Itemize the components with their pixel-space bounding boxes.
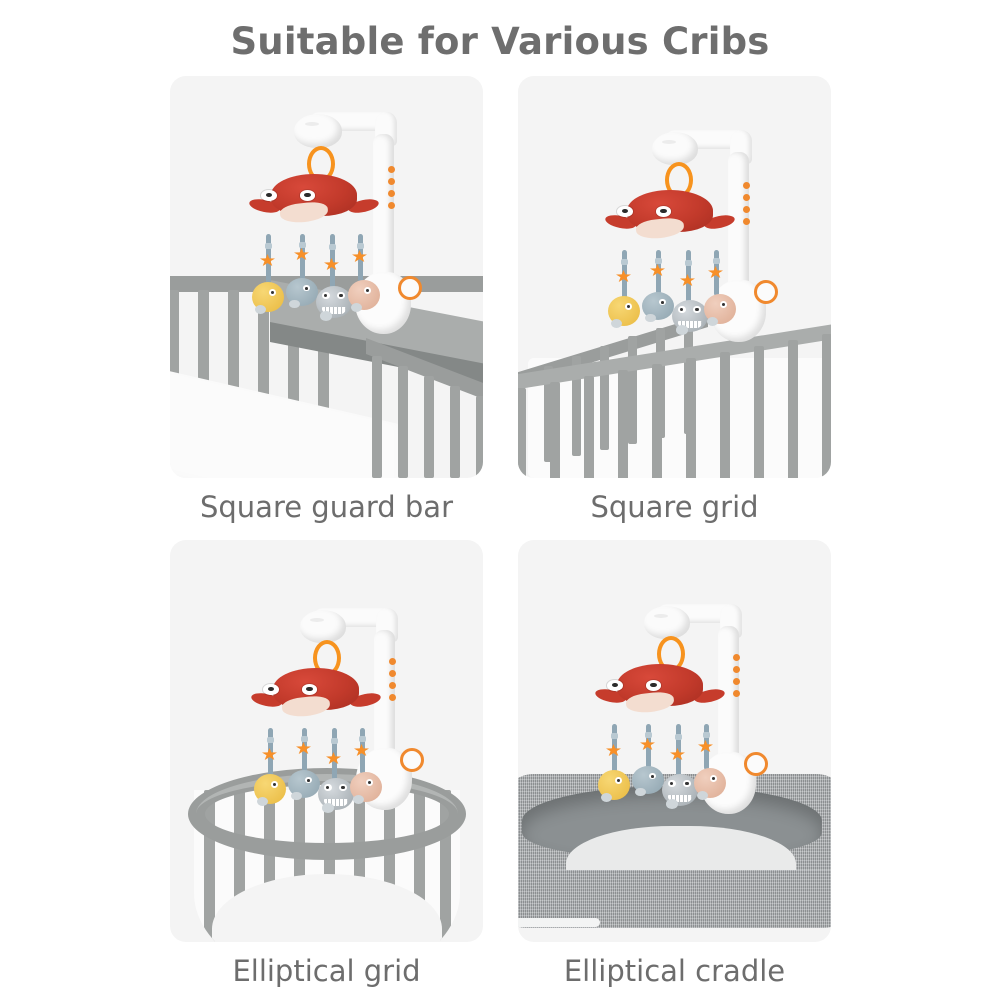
mobile-clamp-knob[interactable] (398, 276, 422, 300)
toy-yellow-fish[interactable] (608, 296, 640, 326)
mobile-height-dot (388, 166, 395, 173)
panel-square-grid[interactable]: Square grid (518, 76, 831, 524)
panel-elliptical-cradle[interactable]: Elliptical cradle (518, 540, 831, 988)
shark-teeth (324, 799, 347, 806)
toy-gray-shark[interactable] (318, 778, 354, 810)
crib-mobile[interactable] (170, 540, 483, 942)
toy-pink-fish[interactable] (704, 294, 736, 324)
toy-gray-shark[interactable] (662, 774, 698, 806)
crib-scene-elliptical-cradle (518, 540, 831, 942)
toy-yellow-fish[interactable] (598, 770, 630, 800)
hanging-toy-group (254, 234, 384, 322)
toy-blue-whale[interactable] (642, 292, 674, 320)
page-title: Suitable for Various Cribs (0, 20, 1000, 63)
hanging-toy-group (610, 250, 740, 338)
hanging-toy-group (256, 728, 386, 816)
infographic-page: Suitable for Various Cribs (0, 0, 1000, 1000)
shark-teeth (322, 307, 345, 314)
crab-eye-left (607, 680, 623, 691)
crab-eye-left (261, 190, 277, 201)
toy-blue-whale[interactable] (288, 770, 320, 798)
mobile-height-dot (388, 178, 395, 185)
mobile-height-dot (733, 654, 740, 661)
crab-eye-right (656, 206, 672, 217)
panel-caption: Square guard bar (170, 490, 483, 524)
mobile-height-dot (743, 182, 750, 189)
shark-teeth (678, 321, 701, 328)
mobile-height-dot (389, 694, 396, 701)
mobile-motor-dome (644, 606, 690, 639)
crib-mobile[interactable] (518, 76, 831, 478)
crib-scene-square-grid (518, 76, 831, 478)
mobile-height-dot (389, 670, 396, 677)
mobile-clamp-knob[interactable] (754, 280, 778, 304)
mobile-height-dot (733, 690, 740, 697)
mobile-height-dot (743, 206, 750, 213)
crab-eye-right (300, 190, 316, 201)
mobile-height-dot (743, 218, 750, 225)
panel-caption: Elliptical grid (170, 954, 483, 988)
photo-square-grid (518, 76, 831, 478)
mobile-height-dot (388, 190, 395, 197)
crib-scene-elliptical-grid (170, 540, 483, 942)
toy-yellow-fish[interactable] (254, 774, 286, 804)
mobile-motor-dome (300, 610, 346, 643)
mobile-height-dot (733, 678, 740, 685)
mobile-clamp-knob[interactable] (744, 752, 768, 776)
panel-square-guard-bar[interactable]: Square guard bar (170, 76, 483, 524)
photo-square-guard-bar (170, 76, 483, 478)
toy-pink-fish[interactable] (350, 772, 382, 802)
crib-mobile[interactable] (170, 76, 483, 478)
mobile-height-dot (733, 666, 740, 673)
mobile-height-dot (743, 194, 750, 201)
crab-eye-right (302, 684, 318, 695)
mobile-height-dot (388, 202, 395, 209)
shark-teeth (668, 795, 691, 802)
panel-caption: Square grid (518, 490, 831, 524)
photo-elliptical-cradle (518, 540, 831, 942)
mobile-clamp-knob[interactable] (400, 748, 424, 772)
toy-blue-whale[interactable] (286, 278, 318, 306)
crab-eye-left (617, 206, 633, 217)
mobile-height-dot (389, 658, 396, 665)
toy-pink-fish[interactable] (348, 280, 380, 310)
panel-grid: Square guard bar (170, 76, 835, 976)
crib-mobile[interactable] (518, 540, 831, 942)
toy-blue-whale[interactable] (632, 766, 664, 794)
crib-scene-square-guard-bar (170, 76, 483, 478)
mobile-height-dot (389, 682, 396, 689)
toy-gray-shark[interactable] (672, 300, 708, 332)
toy-pink-fish[interactable] (694, 768, 726, 798)
panel-elliptical-grid[interactable]: Elliptical grid (170, 540, 483, 988)
mobile-motor-dome (652, 132, 698, 165)
mobile-motor-dome (294, 114, 342, 148)
toy-gray-shark[interactable] (316, 286, 352, 318)
crab-eye-right (646, 680, 662, 691)
hanging-toy-group (600, 724, 730, 812)
photo-elliptical-grid (170, 540, 483, 942)
panel-caption: Elliptical cradle (518, 954, 831, 988)
toy-yellow-fish[interactable] (252, 282, 284, 312)
crab-eye-left (263, 684, 279, 695)
